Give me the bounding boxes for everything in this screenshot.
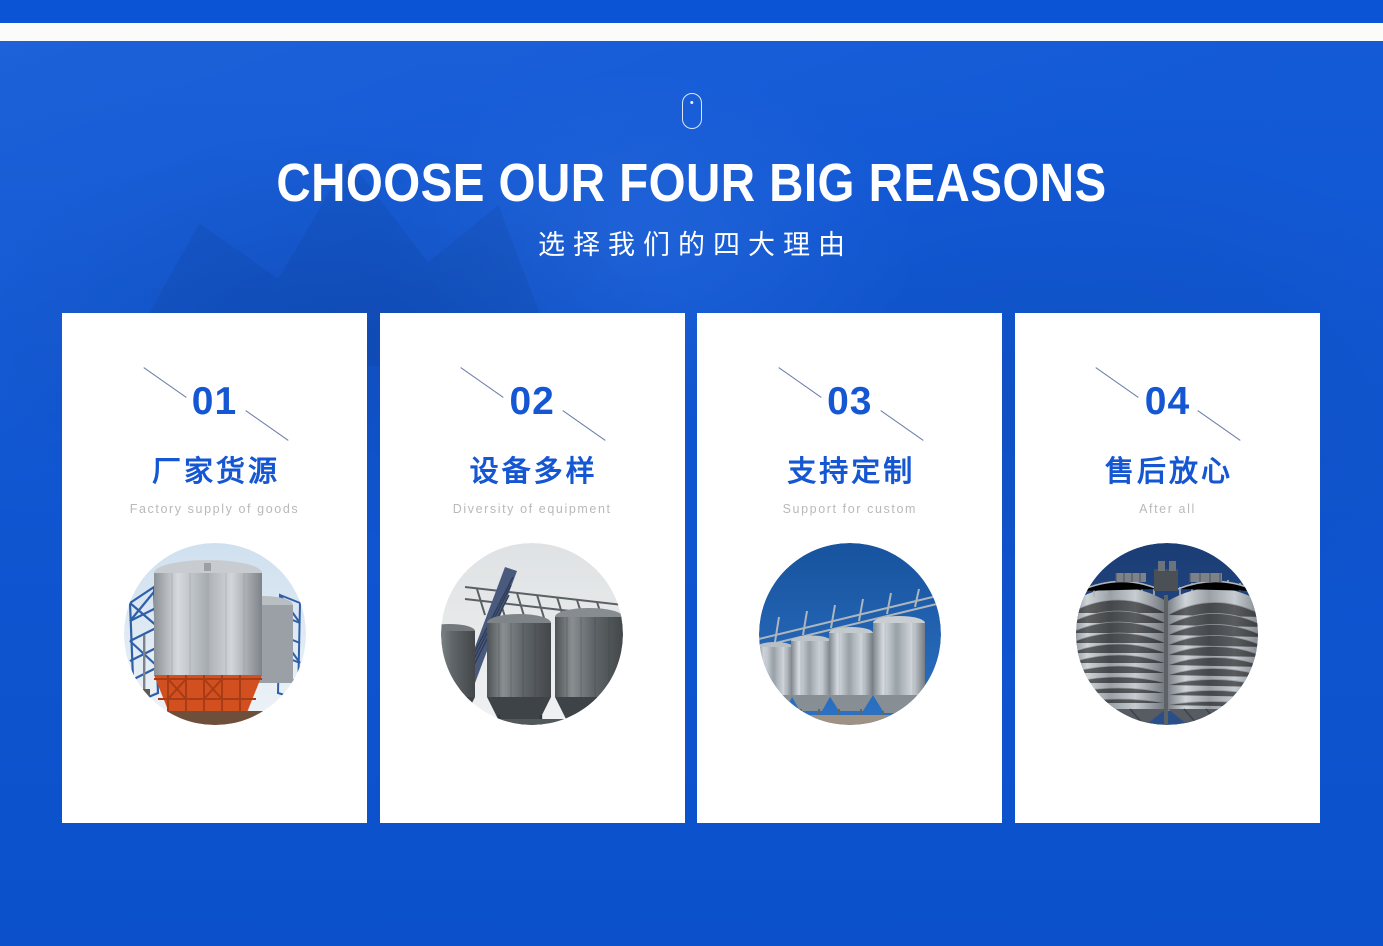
decor-slash-top-left-icon bbox=[461, 367, 504, 398]
decor-slash-top-left-icon bbox=[143, 367, 186, 398]
card-caption: Factory supply of goods bbox=[115, 501, 315, 518]
decor-slash-bottom-right-icon bbox=[1198, 410, 1241, 441]
reason-card-04[interactable]: 04 售后放心 After all bbox=[1015, 313, 1320, 823]
bottom-spacer bbox=[0, 823, 1383, 946]
decor-slash-bottom-right-icon bbox=[563, 410, 606, 441]
hero-section: CHOOSE OUR FOUR BIG REASONS 选择我们的四大理由 01… bbox=[0, 41, 1383, 946]
card-caption: Diversity of equipment bbox=[432, 501, 632, 518]
twin-corrugated-steel-silos-image bbox=[1076, 543, 1258, 725]
card-title: 售后放心 bbox=[1102, 455, 1233, 489]
decor-slash-top-left-icon bbox=[778, 367, 821, 398]
top-blue-strip bbox=[0, 0, 1383, 23]
reason-card-02[interactable]: 02 设备多样 Diversity of equipment bbox=[380, 313, 685, 823]
card-caption: Support for custom bbox=[750, 501, 950, 518]
mouse-scroll-dot bbox=[690, 101, 693, 104]
silo-with-orange-support-frame-image bbox=[124, 543, 306, 725]
card-title: 厂家货源 bbox=[149, 455, 280, 489]
page-title: CHOOSE OUR FOUR BIG REASONS bbox=[83, 151, 1300, 215]
grey-silos-with-conveyor-gantry-image bbox=[441, 543, 623, 725]
reason-cards-row: 01 厂家货源 Factory supply of goods bbox=[62, 313, 1320, 823]
card-number-wrap: 01 bbox=[135, 370, 295, 432]
card-number-wrap: 02 bbox=[452, 370, 612, 432]
heading-block: CHOOSE OUR FOUR BIG REASONS 选择我们的四大理由 bbox=[0, 151, 1383, 263]
card-number-wrap: 03 bbox=[770, 370, 930, 432]
card-title: 支持定制 bbox=[784, 455, 915, 489]
card-number: 02 bbox=[509, 382, 554, 421]
decor-slash-top-left-icon bbox=[1096, 367, 1139, 398]
card-number: 04 bbox=[1145, 382, 1190, 421]
card-caption: After all bbox=[1067, 501, 1267, 518]
card-number: 01 bbox=[192, 382, 237, 421]
mouse-scroll-icon[interactable] bbox=[682, 93, 702, 129]
reason-card-01[interactable]: 01 厂家货源 Factory supply of goods bbox=[62, 313, 367, 823]
page-subtitle: 选择我们的四大理由 bbox=[0, 227, 1383, 263]
card-number-wrap: 04 bbox=[1087, 370, 1247, 432]
reason-card-03[interactable]: 03 支持定制 Support for custom bbox=[697, 313, 1002, 823]
decor-slash-bottom-right-icon bbox=[880, 410, 923, 441]
decor-slash-bottom-right-icon bbox=[245, 410, 288, 441]
card-number: 03 bbox=[827, 382, 872, 421]
galvanized-silo-row-blue-sky-image bbox=[759, 543, 941, 725]
top-white-divider bbox=[0, 23, 1383, 41]
card-title: 设备多样 bbox=[467, 455, 598, 489]
